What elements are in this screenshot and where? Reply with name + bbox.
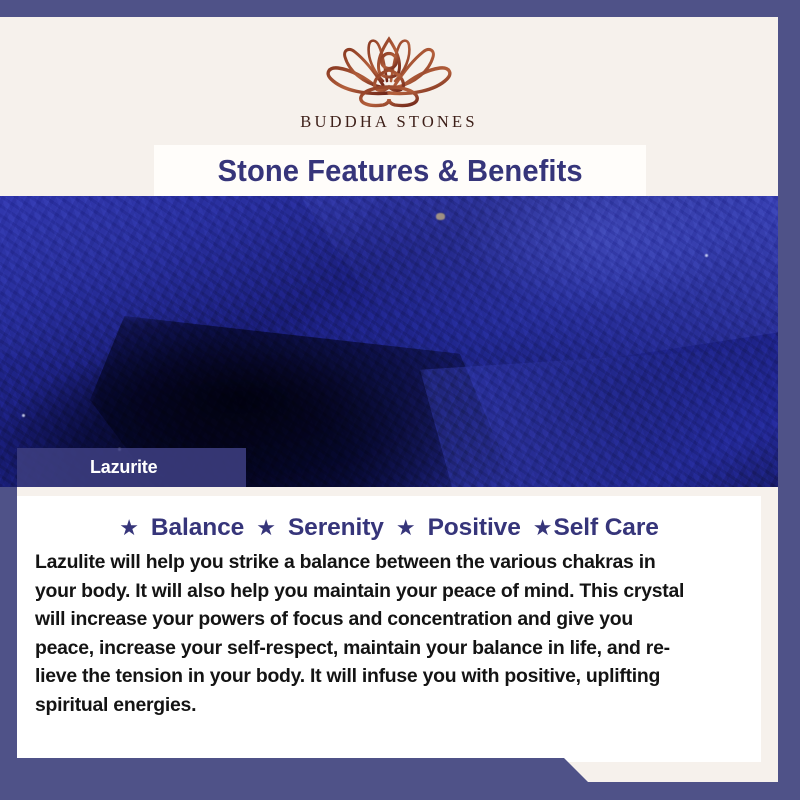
star-icon: ★ xyxy=(256,515,276,541)
brand-name: BUDDHA STONES xyxy=(300,112,477,132)
description-line: Lazulite will help you strike a balance … xyxy=(35,548,743,577)
stone-name-text: Lazurite xyxy=(90,457,157,478)
infographic-card: BUDDHA STONES Stone Features & Benefits … xyxy=(0,0,800,800)
frame-top-band xyxy=(0,0,800,17)
frame-right-band xyxy=(778,0,800,588)
description-text: Lazulite will help you strike a balance … xyxy=(35,548,743,720)
photo-sparkle xyxy=(22,414,25,417)
star-icon: ★ xyxy=(119,515,139,541)
benefit-self-care: Self Care xyxy=(553,514,658,542)
stone-name-label: Lazurite xyxy=(17,448,246,487)
description-line: spiritual energies. xyxy=(35,691,743,720)
page-title: Stone Features & Benefits xyxy=(217,153,582,189)
benefit-balance: Balance xyxy=(151,514,244,542)
description-line: your body. It will also help you maintai… xyxy=(35,577,743,606)
photo-texture xyxy=(0,196,778,487)
content-panel: ★ Balance ★ Serenity ★ Positive ★ Self C… xyxy=(17,496,761,762)
benefit-serenity: Serenity xyxy=(288,514,384,542)
photo-sparkle xyxy=(436,213,445,220)
brand-logo-block: BUDDHA STONES xyxy=(0,17,778,145)
frame-left-band xyxy=(0,487,17,800)
star-icon: ★ xyxy=(396,515,416,541)
description-line: lieve the tension in your body. It will … xyxy=(35,662,743,691)
benefit-positive: Positive xyxy=(428,514,521,542)
stone-photo xyxy=(0,196,778,487)
description-line: peace, increase your self-respect, maint… xyxy=(35,634,743,663)
lotus-meditation-icon xyxy=(305,29,473,111)
description-line: will increase your powers of focus and c… xyxy=(35,605,743,634)
title-band: Stone Features & Benefits xyxy=(154,145,646,196)
star-icon: ★ xyxy=(533,515,553,541)
benefits-row: ★ Balance ★ Serenity ★ Positive ★ Self C… xyxy=(17,496,761,542)
photo-sparkle xyxy=(705,254,708,257)
frame-bottom-band xyxy=(0,758,606,800)
